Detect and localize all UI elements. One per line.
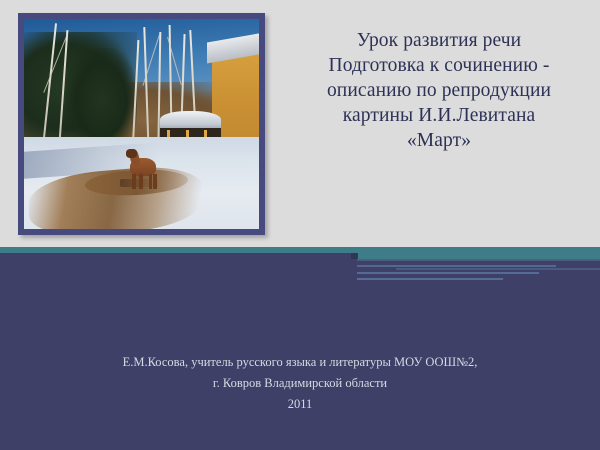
painting-horse-leg-2 [139, 174, 143, 189]
presentation-slide: Урок развития речи Подготовка к сочинени… [0, 0, 600, 450]
painting-horse-leg-1 [132, 174, 136, 189]
painting-horse-leg-4 [153, 174, 157, 189]
title-line-5: «Март» [286, 128, 592, 153]
decorative-line-4 [357, 272, 539, 274]
decorative-line-1 [357, 259, 600, 261]
levitan-march-painting [24, 19, 259, 229]
title-line-3: описанию по репродукции [286, 78, 592, 103]
painting-horse-leg-3 [149, 174, 153, 189]
decorative-line-2 [357, 265, 556, 267]
slide-title: Урок развития речи Подготовка к сочинени… [286, 28, 592, 153]
painting-frame [18, 13, 265, 235]
decorative-line-3 [396, 268, 600, 270]
title-line-1: Урок развития речи [286, 28, 592, 53]
footer-location-line: г. Ковров Владимирской области [30, 373, 570, 394]
footer-author-line: Е.М.Косова, учитель русского языка и лит… [30, 352, 570, 373]
footer-year-line: 2011 [30, 394, 570, 415]
slide-footer: Е.М.Косова, учитель русского языка и лит… [30, 352, 570, 415]
decorative-line-5 [357, 278, 503, 280]
painting-horse-head [126, 149, 137, 157]
accent-band-navy-overlap [0, 253, 357, 267]
title-line-2: Подготовка к сочинению - [286, 53, 592, 78]
title-line-4: картины И.И.Левитана [286, 103, 592, 128]
